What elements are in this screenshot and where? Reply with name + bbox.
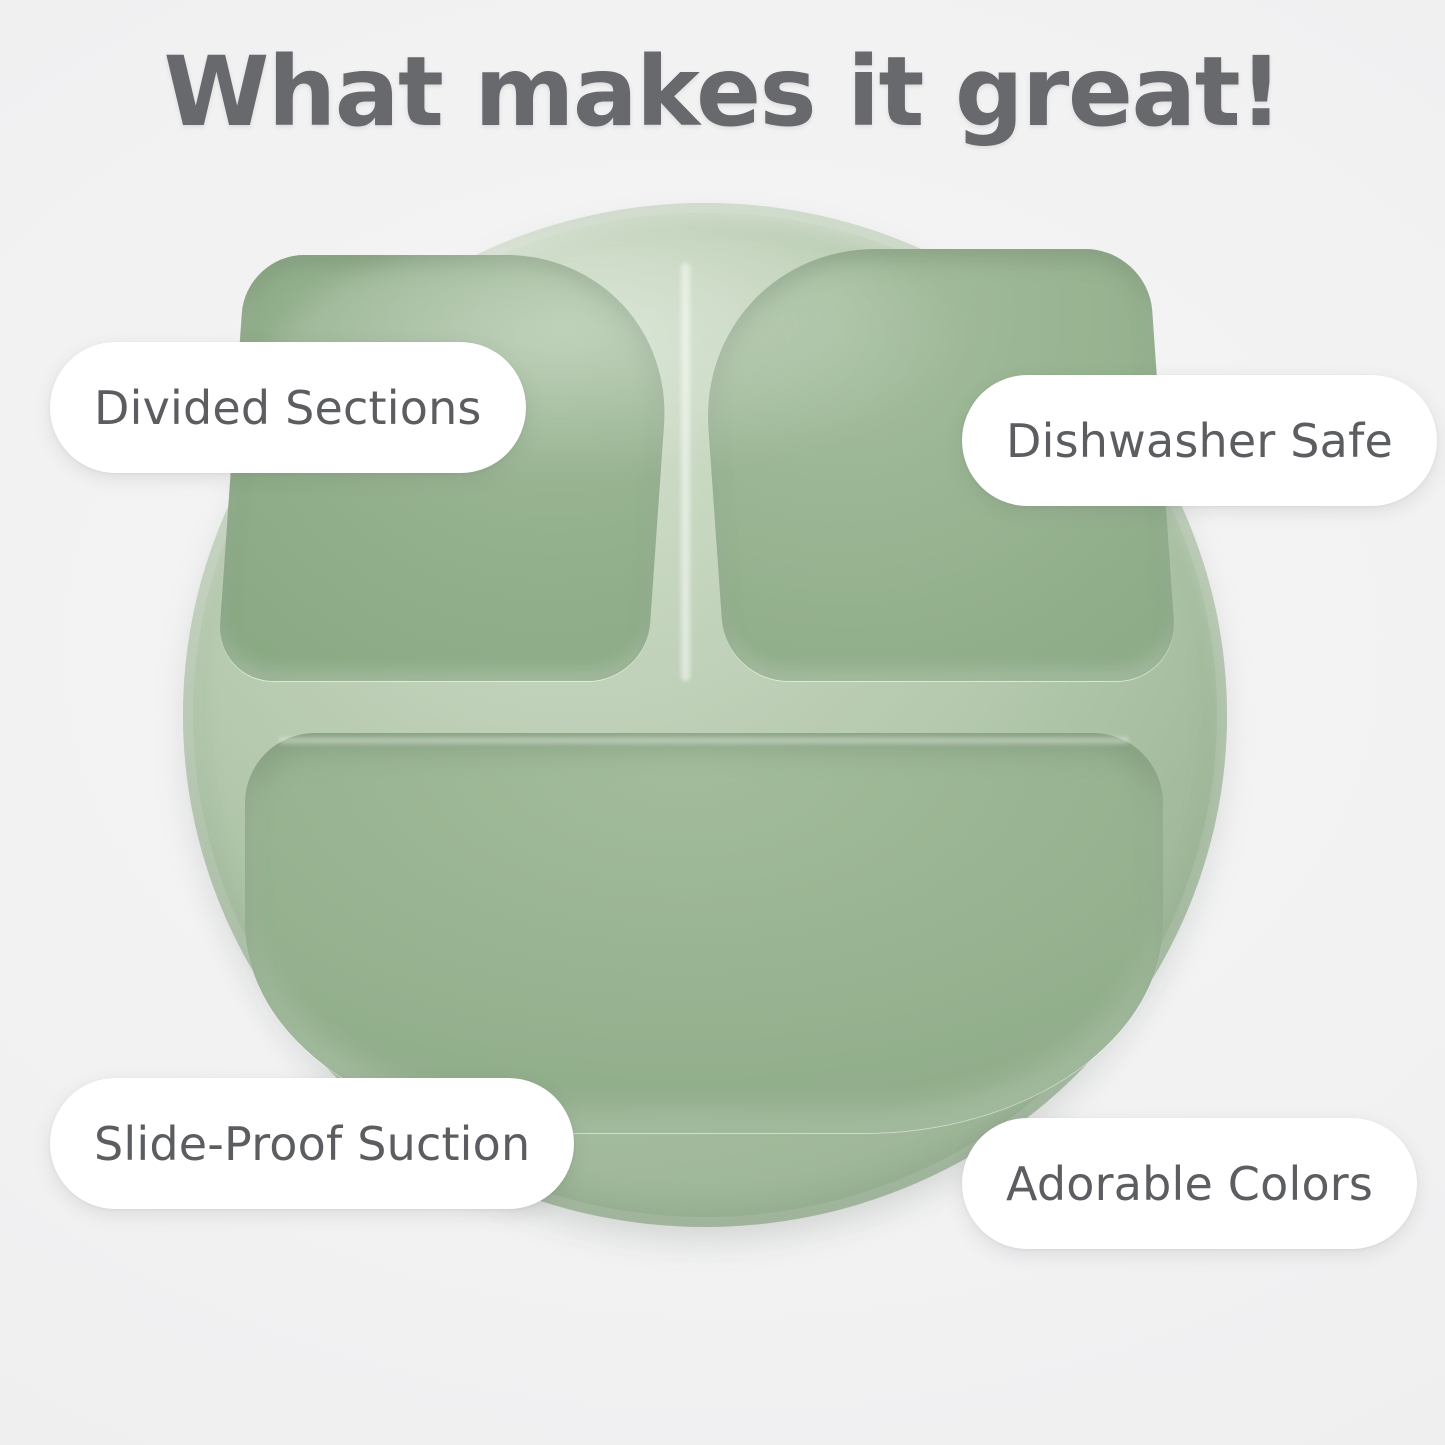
feature-pill-divided-sections[interactable]: Divided Sections xyxy=(50,342,526,473)
lower-compartment xyxy=(245,733,1163,1133)
feature-pill-adorable-colors[interactable]: Adorable Colors xyxy=(962,1118,1417,1249)
feature-pill-label: Slide-Proof Suction xyxy=(94,1121,530,1167)
feature-pill-dishwasher-safe[interactable]: Dishwasher Safe xyxy=(962,375,1437,506)
product-feature-graphic: What makes it great! Divided Sections Di… xyxy=(0,0,1445,1445)
feature-pill-label: Dishwasher Safe xyxy=(1006,418,1393,464)
page-title: What makes it great! xyxy=(0,42,1445,144)
feature-pill-label: Adorable Colors xyxy=(1006,1161,1373,1207)
feature-pill-label: Divided Sections xyxy=(94,385,482,431)
feature-pill-slide-proof-suction[interactable]: Slide-Proof Suction xyxy=(50,1078,574,1209)
